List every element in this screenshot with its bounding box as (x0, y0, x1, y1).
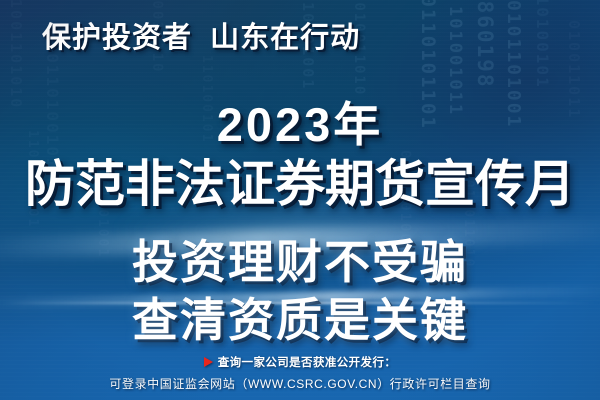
title-block: 2023年 防范非法证券期货宣传月 (0, 100, 600, 212)
footer-line-1: 查询一家公司是否获准公开发行： (0, 354, 600, 370)
red-triangle-arrow-icon (204, 357, 213, 367)
rain-column: 01001101010 (8, 0, 23, 109)
rain-column: 110100101 (534, 0, 550, 89)
campaign-banner-text: 保护投资者 山东在行动 (42, 14, 360, 56)
title-main: 防范非法证券期货宣传月 (0, 156, 600, 212)
footer-line-2-text: 可登录中国证监会网站（WWW.CSRC.GOV.CN）行政许可栏目查询 (0, 375, 600, 392)
rain-column: 9860198 (474, 0, 495, 89)
slogan-line-1: 投资理财不受骗 (0, 234, 600, 292)
footer-block: 查询一家公司是否获准公开发行： 可登录中国证监会网站（WWW.CSRC.GOV.… (0, 354, 600, 392)
footer-line-1-text: 查询一家公司是否获准公开发行： (218, 354, 397, 370)
title-year: 2023年 (0, 100, 600, 150)
poster-canvas: 01001101010 1100101101 010110100101 1001… (0, 0, 600, 400)
slogan-block: 投资理财不受骗 查清资质是关键 (0, 234, 600, 350)
slogan-line-2: 查清资质是关键 (0, 292, 600, 350)
